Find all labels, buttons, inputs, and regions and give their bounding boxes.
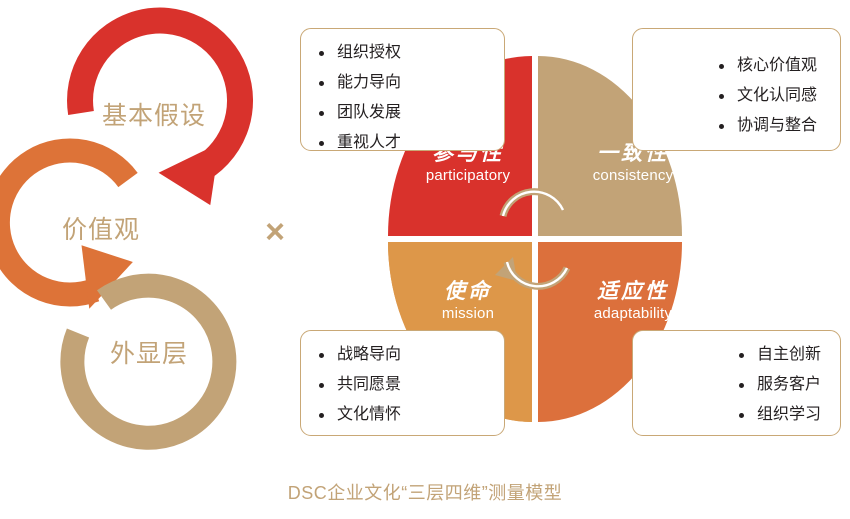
list-item: 服务客户 <box>735 370 840 400</box>
list-item: 文化认同感 <box>715 81 840 111</box>
list-item: 共同愿景 <box>315 370 504 400</box>
spiral-svg <box>0 0 290 450</box>
list-item: 核心价值观 <box>715 51 840 81</box>
callout-participatory: 组织授权 能力导向 团队发展 重视人才 <box>300 28 505 151</box>
three-layer-spiral: 基本假设 价值观 外显层 <box>0 0 290 450</box>
diagram-canvas: 基本假设 价值观 外显层 × <box>0 0 850 519</box>
callout-adaptability: 自主创新 服务客户 组织学习 <box>632 330 841 436</box>
callout-mission: 战略导向 共同愿景 文化情怀 <box>300 330 505 436</box>
figure-caption: DSC企业文化“三层四维”测量模型 <box>0 479 850 505</box>
layer-label-assumptions: 基本假设 <box>102 96 206 132</box>
list-item: 文化情怀 <box>315 400 504 430</box>
list-item: 战略导向 <box>315 340 504 370</box>
list-item: 自主创新 <box>735 340 840 370</box>
callout-list: 组织授权 能力导向 团队发展 重视人才 <box>315 38 504 158</box>
list-item: 组织授权 <box>315 38 504 68</box>
callout-list: 战略导向 共同愿景 文化情怀 <box>315 340 504 430</box>
callout-consistency: 核心价值观 文化认同感 协调与整合 <box>632 28 841 151</box>
list-item: 协调与整合 <box>715 111 840 141</box>
callout-list: 自主创新 服务客户 组织学习 <box>735 340 840 430</box>
list-item: 能力导向 <box>315 68 504 98</box>
multiply-icon: × <box>255 212 295 252</box>
layer-label-artifacts: 外显层 <box>110 334 188 370</box>
layer-label-values: 价值观 <box>62 210 140 246</box>
callout-list: 核心价值观 文化认同感 协调与整合 <box>715 51 840 141</box>
list-item: 组织学习 <box>735 400 840 430</box>
list-item: 重视人才 <box>315 128 504 158</box>
list-item: 团队发展 <box>315 98 504 128</box>
